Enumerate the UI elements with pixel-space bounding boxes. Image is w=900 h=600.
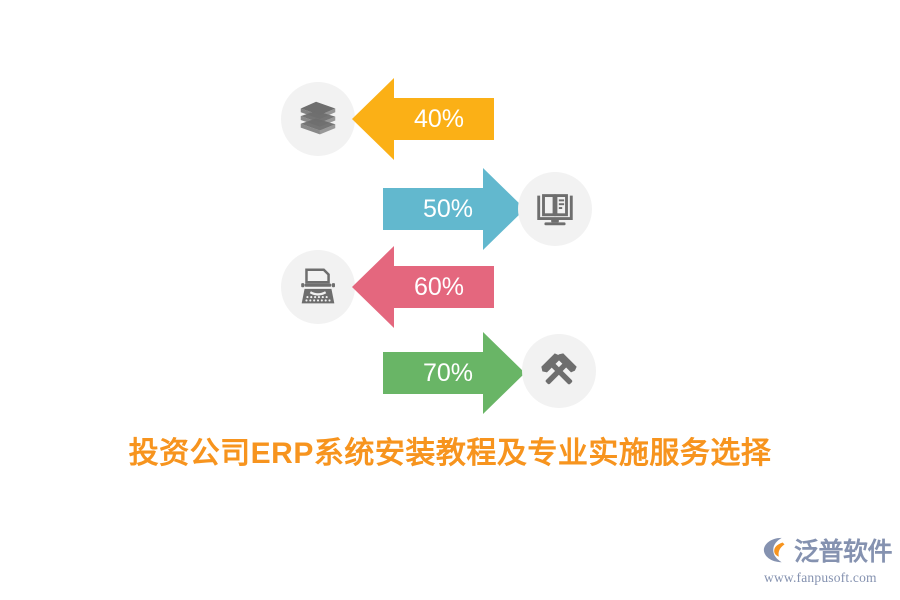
arrow-label-60: 60% xyxy=(414,275,464,300)
fanpu-logo-mark-icon xyxy=(762,535,792,570)
typewriter-icon xyxy=(281,250,355,324)
arrow-label-40: 40% xyxy=(414,107,464,132)
arrow-50-percent: 50% xyxy=(383,168,525,250)
crossed-hammers-icon xyxy=(522,334,596,408)
arrow-label-70: 70% xyxy=(423,361,473,386)
logo-website-url: www.fanpusoft.com xyxy=(764,570,894,586)
page-title: 投资公司ERP系统安装教程及专业实施服务选择 xyxy=(0,428,900,472)
arrow-40-percent: 40% xyxy=(352,78,494,160)
books-stack-icon xyxy=(281,82,355,156)
infographic-canvas: 40% 50% xyxy=(0,0,900,600)
arrow-70-percent: 70% xyxy=(383,332,525,414)
arrow-60-percent: 60% xyxy=(352,246,494,328)
open-book-icon xyxy=(518,172,592,246)
logo-company-name: 泛普软件 xyxy=(794,540,892,565)
brand-logo: 泛普软件 www.fanpusoft.com xyxy=(762,536,894,588)
arrow-label-50: 50% xyxy=(423,197,473,222)
